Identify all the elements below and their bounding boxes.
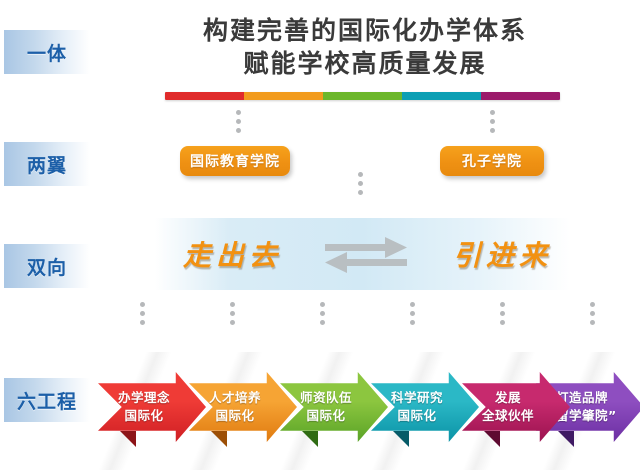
institute-pill-label: 孔子学院 [462,151,522,171]
dot [490,128,495,133]
project-connector-dots-5 [500,302,505,325]
wings-dots-2 [490,110,495,133]
project-connector-dots-2 [230,302,235,325]
page-title: 构建完善的国际化办学体系 赋能学校高质量发展 [150,14,580,80]
go-out-label: 走出去 [183,234,282,274]
chevron-tail-2 [211,431,227,447]
chevron-tail-5 [484,431,500,447]
rail-label-text: 双向 [27,253,67,280]
wings-dots-3 [358,172,363,195]
dot [358,172,363,177]
rule-segment-3 [323,92,402,100]
chevron-tail-3 [302,431,318,447]
dot [410,302,415,307]
institute-pill-2[interactable]: 孔子学院 [440,146,544,176]
project-connector-dots-3 [320,302,325,325]
project-chevron-line-1: 发展 [495,389,521,407]
dot [320,320,325,325]
rail-label-1: 一体 [4,30,90,74]
rail-label-4: 六工程 [4,378,90,422]
dot [490,119,495,124]
project-chevron-line-2: 国际化 [124,407,163,425]
rail-label-3: 双向 [4,244,90,288]
dot [500,302,505,307]
project-chevron-line-2: 国际化 [397,407,436,425]
infographic-canvas: 一体两翼双向六工程 构建完善的国际化办学体系 赋能学校高质量发展 国际教育学院孔… [0,0,640,476]
dot [500,320,505,325]
dot [590,311,595,316]
dot [236,110,241,115]
rail-label-2: 两翼 [4,142,90,186]
project-connector-dots-1 [140,302,145,325]
rule-segment-1 [165,92,244,100]
institute-pill-label: 国际教育学院 [190,151,280,171]
chevron-tail-1 [120,431,136,447]
bidirectional-band: 走出去 引进来 [155,218,570,290]
dot [140,302,145,307]
project-connector-dots-6 [590,302,595,325]
rule-segment-4 [402,92,481,100]
dot [358,181,363,186]
dot [590,302,595,307]
wings-dots-1 [236,110,241,133]
dot [230,320,235,325]
dot [490,110,495,115]
dot [140,320,145,325]
dot [410,311,415,316]
title-line-1: 构建完善的国际化办学体系 [150,14,580,47]
chevron-tail-4 [393,431,409,447]
institute-pill-1[interactable]: 国际教育学院 [180,146,290,176]
title-color-rule [165,92,560,100]
project-chevron-line-2: 国际化 [215,407,254,425]
dot [236,119,241,124]
project-connector-dots-4 [410,302,415,325]
rail-label-text: 两翼 [27,151,67,178]
project-chevron-line-1: 办学理念 [118,389,170,407]
dot [320,302,325,307]
project-chevron-line-1: 师资队伍 [300,389,352,407]
project-chevron-line-1: 人才培养 [209,389,261,407]
title-line-2: 赋能学校高质量发展 [150,47,580,80]
bring-in-label: 引进来 [453,234,552,274]
dot [590,320,595,325]
rail-label-text: 一体 [27,39,67,66]
project-chevron-1[interactable]: 办学理念国际化 [98,372,206,442]
dot [236,128,241,133]
project-chevron-line-2: 全球伙伴 [482,407,534,425]
chevron-tail-6 [558,431,574,447]
dot [230,302,235,307]
project-chevron-line-1: 科学研究 [391,389,443,407]
rule-segment-2 [244,92,323,100]
project-chevron-line-2: 国际化 [306,407,345,425]
dot [410,320,415,325]
dot [500,311,505,316]
dot [358,190,363,195]
dot [320,311,325,316]
exchange-arrows-icon [323,232,409,276]
rail-label-text: 六工程 [17,387,77,414]
dot [230,311,235,316]
dot [140,311,145,316]
rule-segment-5 [481,92,560,100]
